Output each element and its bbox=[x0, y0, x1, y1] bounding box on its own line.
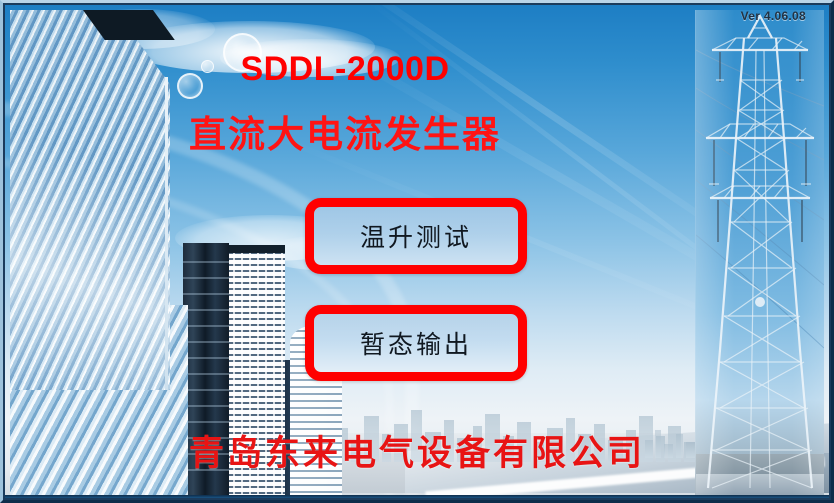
window-bottom-strip bbox=[0, 495, 834, 503]
splash-screen: Ver 4.06.08 SDDL-2000D 直流大电流发生器 温升测试 暂态输… bbox=[0, 0, 834, 503]
company-name: 青岛东来电气设备有限公司 bbox=[0, 425, 834, 476]
product-subtitle: 直流大电流发生器 bbox=[0, 104, 690, 158]
temp-rise-test-button[interactable]: 温升测试 bbox=[305, 198, 527, 274]
page-title: SDDL-2000D bbox=[0, 50, 690, 89]
version-label: Ver 4.06.08 bbox=[741, 9, 806, 23]
transient-output-button[interactable]: 暂态输出 bbox=[305, 305, 527, 381]
